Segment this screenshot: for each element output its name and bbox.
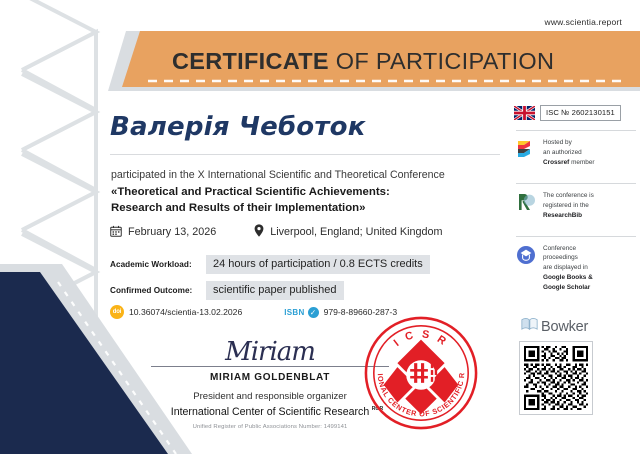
calendar-icon (110, 225, 122, 240)
signatory-organization-text: International Center of Scientific Resea… (171, 406, 369, 418)
researchbib-icon (516, 192, 536, 212)
isbn-check-icon: ✓ (308, 307, 319, 318)
fact-value: scientific paper published (206, 281, 344, 300)
gs-line2: proceedings (543, 254, 578, 261)
fact-row: Academic Workload: 24 hours of participa… (110, 255, 430, 274)
crossref-line1: Hosted by (543, 139, 572, 146)
crossref-line2: an authorized (543, 149, 582, 156)
icsr-seal: I C S R INTERNATIONAL CENTER OF SCIENTIF… (362, 314, 480, 432)
badge-google-scholar[interactable]: Conference proceedings are displayed in … (512, 237, 640, 300)
researchbib-line1: The conference is (543, 192, 594, 199)
fact-label: Academic Workload: (110, 260, 206, 269)
certificate-title-bold: CERTIFICATE (172, 48, 329, 74)
fact-row: Confirmed Outcome: scientific paper publ… (110, 281, 430, 300)
gs-line4-bold: Google Books & (543, 274, 593, 281)
participation-line: participated in the X International Scie… (111, 169, 445, 181)
gs-line3: are displayed in (543, 264, 588, 271)
crossref-line3-rest: member (569, 159, 594, 166)
event-date-text: February 13, 2026 (128, 226, 216, 238)
certificate-title-light: OF PARTICIPATION (336, 48, 555, 74)
fact-value: 24 hours of participation / 0.8 ECTS cre… (206, 255, 430, 274)
event-location-text: Liverpool, England; United Kingdom (270, 226, 442, 238)
badge-crossref-text: Hosted by an authorized Crossref member (543, 138, 595, 168)
bowker-logo: Bowker (521, 317, 588, 336)
doi-text: 10.36074/scientia-13.02.2026 (129, 307, 242, 317)
fact-label: Confirmed Outcome: (110, 286, 206, 295)
location-pin-icon (254, 224, 264, 240)
right-rail: ISC № 2602130151 Hosted by an authorized… (512, 105, 640, 299)
website-url: www.scientia.report (545, 17, 623, 27)
signatory-name: MIRIAM GOLDENBLAT (145, 372, 395, 383)
badge-researchbib-text: The conference is registered in the Rese… (543, 191, 594, 221)
signature-block: Miriam MIRIAM GOLDENBLAT President and r… (145, 340, 395, 430)
qr-code[interactable] (519, 341, 593, 415)
recipient-name: Валерія Чеботок (110, 112, 366, 142)
name-divider (110, 154, 500, 155)
doi-icon: doi (110, 305, 124, 319)
certificate-page: www.scientia.report CERTIFICATE OF PARTI… (0, 0, 640, 454)
conference-title-line2: Research and Results of their Implementa… (111, 201, 511, 217)
researchbib-line2: registered in the (543, 202, 589, 209)
badge-google-scholar-text: Conference proceedings are displayed in … (543, 244, 593, 294)
uk-flag-icon (514, 106, 535, 120)
gs-line5-bold: Google Scholar (543, 284, 590, 291)
researchbib-line3-bold: ResearchBib (543, 212, 582, 219)
signatory-role: President and responsible organizer (145, 391, 395, 402)
open-book-icon (521, 317, 538, 336)
identifiers-row: doi 10.36074/scientia-13.02.2026 ISBN ✓ … (110, 305, 397, 319)
certificate-title: CERTIFICATE OF PARTICIPATION (172, 48, 554, 75)
badge-researchbib[interactable]: The conference is registered in the Rese… (512, 184, 640, 227)
isc-number: ISC № 2602130151 (540, 105, 621, 121)
register-fine-print: Unified Register of Public Associations … (145, 424, 395, 430)
isc-row: ISC № 2602130151 (514, 105, 640, 121)
crossref-line3-bold: Crossref (543, 159, 569, 166)
google-scholar-icon (516, 245, 536, 265)
doi-group[interactable]: doi 10.36074/scientia-13.02.2026 (110, 305, 242, 319)
badge-crossref[interactable]: Hosted by an authorized Crossref member (512, 131, 640, 174)
conference-title-line1: «Theoretical and Practical Scientific Ac… (111, 185, 511, 201)
gs-line1: Conference (543, 245, 576, 252)
signatory-organization: International Center of Scientific Resea… (171, 406, 369, 418)
handwritten-signature: Miriam (145, 340, 395, 365)
event-date: February 13, 2026 (110, 225, 216, 240)
crossref-icon (516, 139, 536, 159)
bowker-label: Bowker (541, 319, 588, 335)
event-meta-row: February 13, 2026 Liverpool, England; Un… (110, 224, 443, 240)
conference-title: «Theoretical and Practical Scientific Ac… (111, 185, 511, 216)
facts-block: Academic Workload: 24 hours of participa… (110, 255, 430, 307)
event-location: Liverpool, England; United Kingdom (254, 224, 442, 240)
isbn-label: ISBN (284, 308, 304, 317)
